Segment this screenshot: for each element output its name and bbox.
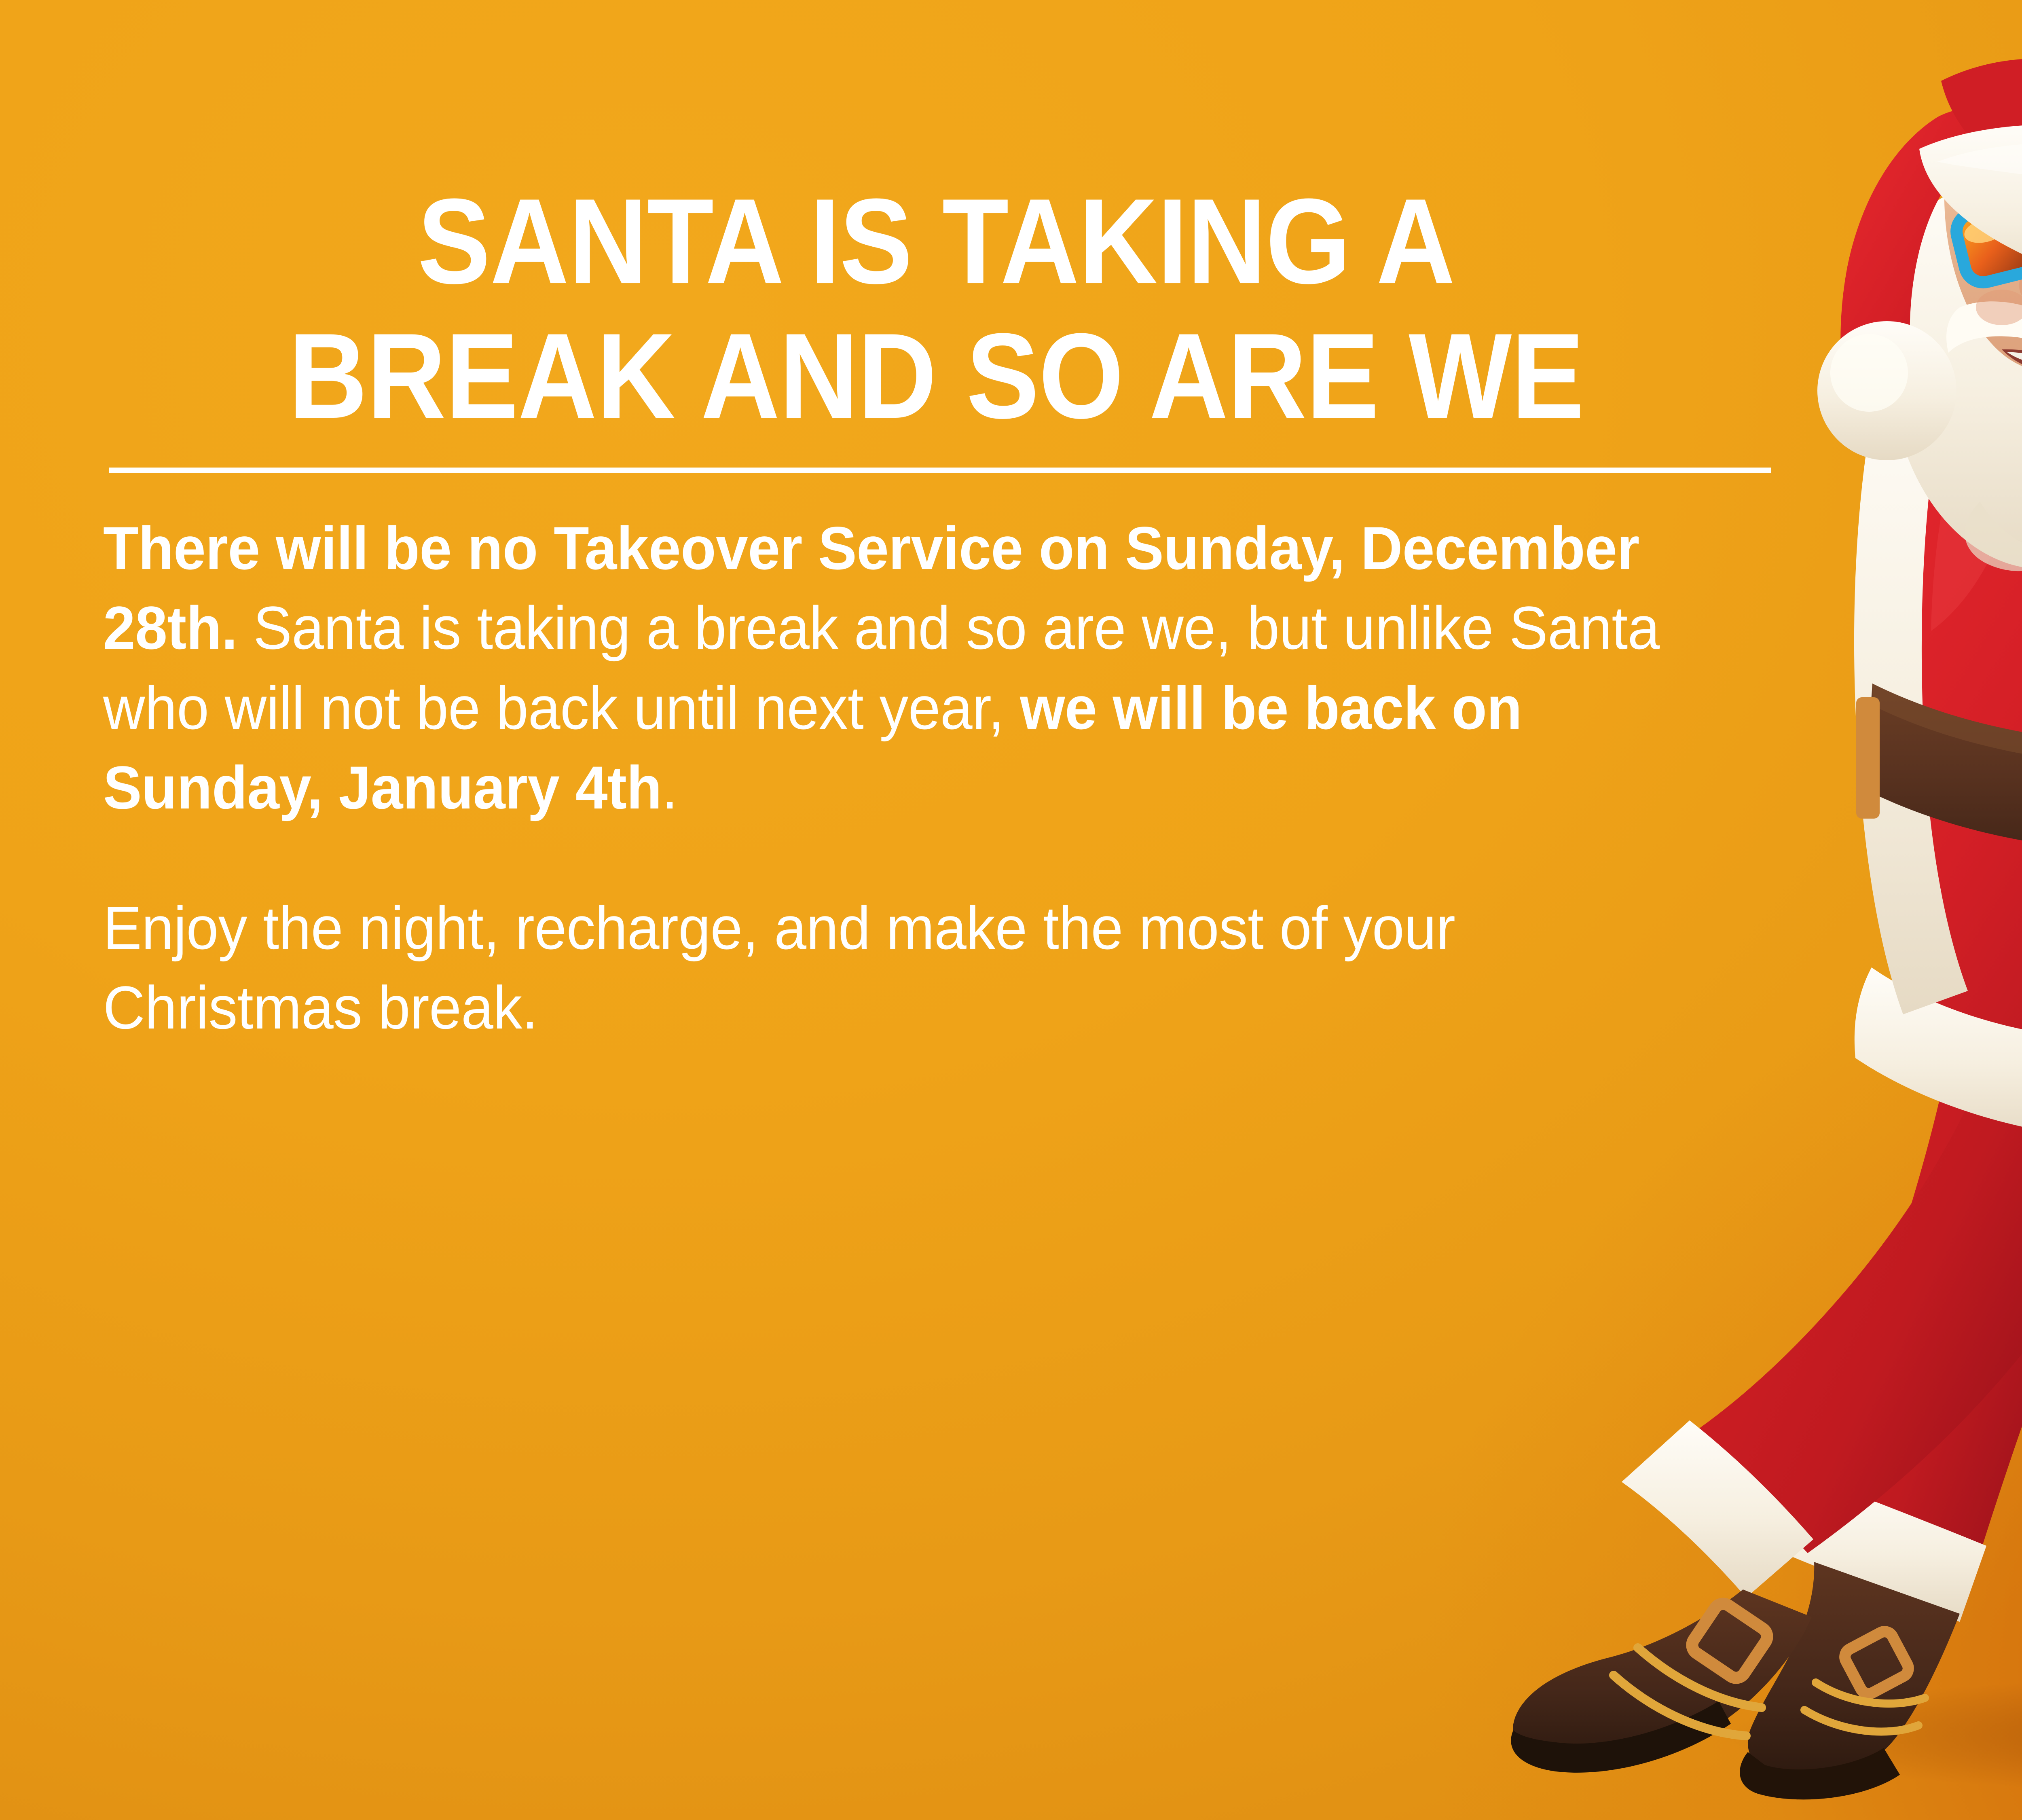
boot-front-sole xyxy=(1511,1701,1731,1773)
belt-buckle xyxy=(1856,697,1880,819)
santa-coat xyxy=(1854,330,2022,1141)
leg-front-fur-cuff xyxy=(1622,1420,1813,1598)
coat-fur-hem xyxy=(1855,967,2022,1141)
boot-front xyxy=(1511,1589,1812,1773)
santa-belt xyxy=(1856,684,2022,852)
santa-moustache xyxy=(1946,301,2022,356)
santa-hat xyxy=(1817,59,2022,460)
santa-beard xyxy=(1889,179,2022,568)
lens-glint-left xyxy=(1962,215,2008,247)
headline-line-1: SANTA IS TAKING A xyxy=(186,174,1686,309)
title-divider xyxy=(109,468,1771,473)
paragraph-regular-end: . xyxy=(662,753,677,821)
coat-front-fur-placket xyxy=(1854,364,1968,1014)
hat-fur-band xyxy=(1919,125,2022,296)
santa-face xyxy=(1944,127,2022,371)
text-column: SANTA IS TAKING A BREAK AND SO ARE WE Th… xyxy=(103,174,1769,1048)
boot-back xyxy=(1740,1562,1960,1799)
paragraph-secondary: Enjoy the night, recharge, and make the … xyxy=(103,888,1694,1048)
page-title: SANTA IS TAKING A BREAK AND SO ARE WE xyxy=(186,174,1686,443)
santa-leg-front xyxy=(1511,1019,2022,1773)
body-copy: There will be no Takeover Service on Sun… xyxy=(103,508,1769,1048)
santa-mouth xyxy=(2002,349,2022,370)
boot-back-buckle xyxy=(1842,1629,1911,1697)
boot-front-gold-braid xyxy=(1614,1648,1762,1736)
hat-pompom xyxy=(1817,321,1956,460)
paragraph-primary: There will be no Takeover Service on Sun… xyxy=(103,508,1694,827)
poster-canvas: SANTA IS TAKING A BREAK AND SO ARE WE Th… xyxy=(0,0,2022,1820)
leg-back-fur-cuff xyxy=(1775,1471,1986,1622)
headline-line-2: BREAK AND SO ARE WE xyxy=(186,309,1686,443)
boot-front-buckle xyxy=(1688,1600,1771,1682)
ground-shadow xyxy=(1719,1674,2022,1796)
sunglasses xyxy=(1950,138,2022,286)
boot-back-gold-braid xyxy=(1804,1682,1925,1732)
santa-leg-back xyxy=(1740,1035,2022,1799)
